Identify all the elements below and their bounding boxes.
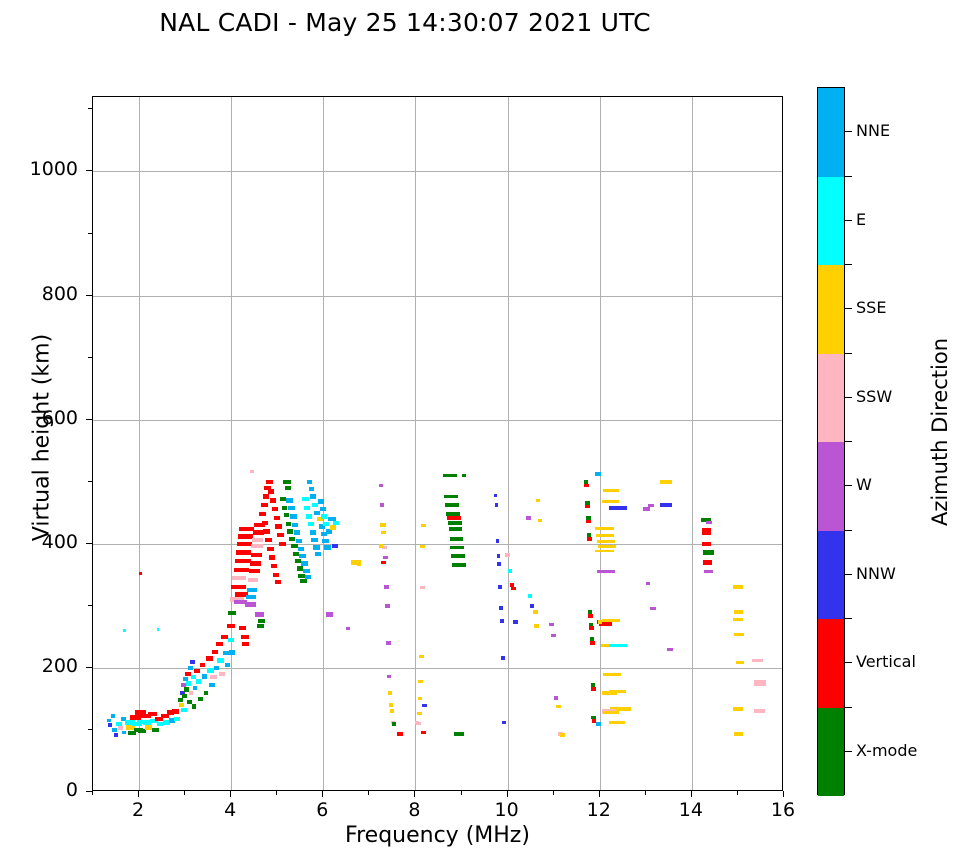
echo-mark [239, 527, 255, 531]
echo-mark [704, 570, 713, 573]
colorbar-tick [845, 751, 852, 752]
echo-mark [733, 585, 742, 589]
echo-mark [702, 528, 711, 535]
echo-mark [752, 659, 763, 663]
echo-mark [229, 650, 235, 654]
y-axis-title: Virtual height (km) [30, 288, 55, 588]
echo-mark [602, 691, 618, 695]
echo-mark [591, 687, 596, 691]
echo-mark [194, 669, 200, 673]
y-tick-minor [88, 729, 92, 730]
echo-mark [273, 573, 279, 577]
echo-mark [245, 602, 256, 606]
echo-mark [212, 650, 218, 654]
echo-mark [513, 620, 518, 624]
echo-mark [122, 731, 127, 735]
echo-mark [703, 550, 713, 555]
colorbar-tick [845, 485, 852, 486]
echo-mark [733, 618, 742, 622]
echo-mark [300, 579, 306, 583]
echo-mark [497, 562, 501, 566]
echo-mark [381, 561, 386, 565]
echo-mark [283, 480, 291, 484]
echo-mark [419, 655, 424, 658]
echo-mark [210, 675, 216, 679]
echo-mark [193, 686, 198, 690]
echo-mark [560, 733, 565, 737]
x-tick [783, 791, 784, 797]
x-tick-label: 12 [569, 799, 629, 821]
echo-mark [232, 576, 246, 580]
echo-mark [609, 506, 627, 510]
echo-mark [242, 642, 248, 646]
echo-mark [241, 635, 248, 639]
x-tick [599, 791, 600, 797]
y-tick-minor [88, 108, 92, 109]
echo-mark [227, 624, 235, 628]
echo-mark [157, 628, 160, 630]
echo-mark [262, 521, 268, 525]
echo-mark [497, 554, 501, 558]
echo-mark [383, 556, 388, 560]
echo-mark [499, 606, 503, 610]
echo-mark [330, 525, 336, 529]
echo-mark [379, 544, 384, 548]
echo-mark [286, 522, 292, 526]
echo-mark [646, 582, 651, 585]
echo-mark [188, 666, 193, 670]
echo-mark [310, 494, 316, 498]
echo-mark [602, 619, 620, 622]
colorbar-segment-sse [818, 265, 844, 354]
echo-mark [274, 516, 280, 520]
echo-mark [388, 691, 393, 695]
echo-mark [596, 722, 601, 726]
echo-mark [275, 580, 281, 584]
echo-mark [733, 707, 743, 711]
echo-mark [247, 588, 257, 592]
y-tick-label: 200 [0, 655, 78, 677]
echo-mark [268, 489, 274, 493]
echo-mark [603, 711, 619, 714]
echo-mark [734, 610, 743, 614]
echo-mark [554, 696, 559, 700]
echo-mark [310, 530, 316, 534]
echo-mark [502, 721, 506, 725]
echo-mark [536, 499, 540, 502]
x-tick [230, 791, 231, 797]
echo-mark [190, 660, 195, 664]
x-axis-title: Frequency (MHz) [92, 823, 783, 848]
echo-mark [280, 497, 286, 501]
colorbar-segment-x-mode [818, 708, 844, 797]
echo-mark [202, 674, 207, 678]
echo-mark [417, 712, 422, 715]
echo-mark [236, 550, 252, 554]
echo-mark [320, 507, 326, 511]
echo-mark [706, 521, 712, 524]
echo-mark [587, 537, 592, 541]
echo-mark [754, 680, 766, 686]
echo-mark [595, 550, 613, 552]
echo-mark [526, 516, 531, 520]
x-tick [138, 791, 139, 797]
x-tick-minor [184, 791, 185, 795]
echo-mark [271, 564, 277, 568]
echo-mark [228, 638, 234, 642]
x-tick [507, 791, 508, 797]
echo-mark [269, 555, 275, 559]
colorbar-label-nne: NNE [856, 121, 890, 140]
colorbar-tick [845, 308, 852, 309]
colorbar-label-vertical: Vertical [856, 652, 916, 671]
echo-mark [381, 531, 386, 535]
echo-mark [290, 514, 296, 518]
x-tick-minor [276, 791, 277, 795]
echo-mark [420, 545, 425, 548]
echo-mark [498, 585, 502, 589]
echo-mark [379, 484, 384, 488]
echo-mark [198, 697, 203, 701]
y-tick-label: 0 [0, 779, 78, 801]
echo-mark [447, 516, 461, 520]
echo-mark [451, 554, 465, 558]
echo-mark [315, 552, 321, 556]
x-tick-label: 4 [200, 799, 260, 821]
echo-mark [178, 698, 184, 702]
echo-mark [385, 604, 390, 608]
echo-mark [660, 480, 672, 484]
echo-mark [313, 545, 319, 549]
y-tick-label: 1000 [0, 158, 78, 180]
echo-mark [286, 498, 292, 502]
echo-mark [306, 514, 312, 518]
echo-mark [386, 641, 391, 645]
echo-mark [501, 656, 505, 660]
colorbar-segment-ssw [818, 354, 844, 443]
echo-mark [231, 585, 246, 589]
echo-mark [421, 524, 426, 527]
echo-mark [357, 561, 362, 565]
echo-mark [148, 712, 157, 716]
echo-mark [418, 697, 423, 700]
echo-mark [449, 527, 463, 531]
echo-mark [324, 545, 330, 549]
echo-mark [422, 704, 427, 707]
echo-mark [596, 534, 614, 537]
echo-mark [452, 563, 466, 567]
echo-mark [598, 472, 601, 476]
echo-mark [585, 505, 590, 509]
echo-mark [250, 561, 261, 565]
echo-mark [392, 722, 397, 726]
echo-mark [534, 624, 539, 628]
echo-mark [174, 717, 180, 721]
colorbar-tick [845, 131, 852, 132]
echo-mark [389, 703, 394, 707]
colorbar-segment-nne [818, 88, 844, 177]
echo-mark [590, 641, 595, 645]
echo-mark [123, 629, 126, 632]
echo-mark [500, 619, 504, 623]
echo-mark [384, 585, 389, 589]
echo-mark [204, 691, 209, 695]
echo-mark [323, 522, 329, 526]
echo-mark [272, 507, 278, 511]
echo-mark [584, 484, 589, 488]
echo-mark [250, 470, 255, 473]
echo-mark [298, 547, 304, 551]
echo-mark [307, 480, 313, 484]
echo-mark [251, 544, 262, 548]
x-tick [691, 791, 692, 797]
echo-mark [603, 673, 621, 676]
colorbar-title: Azimuth Direction [928, 282, 952, 582]
x-tick-minor [645, 791, 646, 795]
echo-mark [736, 661, 744, 664]
plot-area [92, 96, 783, 791]
x-tick-label: 10 [477, 799, 537, 821]
colorbar-tick [845, 574, 852, 575]
y-tick [86, 419, 92, 420]
y-tick-minor [88, 481, 92, 482]
echo-mark [301, 561, 307, 565]
y-tick [86, 791, 92, 792]
colorbar-segment-nnw [818, 531, 844, 620]
echo-mark [216, 642, 223, 646]
echo-mark [196, 679, 201, 683]
echo-mark [249, 569, 260, 573]
echo-mark [200, 663, 206, 667]
echo-mark [387, 675, 392, 679]
echo-mark [192, 704, 197, 708]
colorbar-tick [845, 220, 852, 221]
echo-mark [311, 538, 317, 542]
echo-mark [275, 524, 281, 528]
echo-mark [114, 733, 118, 737]
echo-mark [530, 604, 535, 608]
echo-mark [450, 537, 464, 541]
echo-mark [255, 612, 264, 616]
echo-mark [556, 705, 561, 709]
echo-mark [181, 708, 186, 712]
echo-mark [496, 539, 500, 543]
colorbar-boundary-tick [845, 176, 852, 177]
echo-mark [263, 494, 269, 498]
echo-mark [598, 545, 616, 548]
echo-mark [292, 523, 298, 527]
echo-mark [214, 666, 220, 670]
echo-mark [277, 533, 283, 537]
echo-mark [450, 546, 464, 550]
echo-mark [284, 513, 290, 517]
echo-mark [305, 575, 311, 579]
echo-mark [321, 514, 327, 518]
x-tick [414, 791, 415, 797]
echo-mark [495, 503, 499, 507]
colorbar-boundary-tick [845, 264, 852, 265]
echo-mark [182, 694, 187, 698]
echo-mark [228, 611, 235, 615]
echo-mark [318, 499, 324, 503]
echo-mark [189, 691, 194, 695]
echo-mark [415, 721, 420, 724]
echo-mark [443, 474, 457, 478]
y-tick [86, 667, 92, 668]
echo-mark [589, 626, 594, 630]
echo-mark [248, 578, 258, 582]
echo-mark [237, 542, 253, 546]
echo-mark [246, 595, 256, 599]
x-tick-minor [92, 791, 93, 795]
echo-mark [420, 586, 425, 589]
echo-mark [454, 732, 464, 736]
colorbar-tick [845, 662, 852, 663]
y-tick [86, 295, 92, 296]
echo-mark [702, 542, 711, 546]
echo-mark [225, 663, 231, 667]
echo-mark [267, 547, 273, 551]
echo-mark [266, 480, 272, 484]
echo-mark [209, 683, 215, 687]
echo-mark [418, 680, 423, 683]
echo-mark [508, 569, 513, 573]
echo-mark [289, 537, 295, 541]
echo-mark [603, 489, 619, 492]
x-tick-minor [368, 791, 369, 795]
echo-mark [108, 723, 112, 727]
x-tick-label: 16 [753, 799, 813, 821]
echo-mark [234, 568, 250, 572]
echo-mark [217, 658, 223, 662]
echo-mark [528, 594, 533, 598]
x-tick-minor [737, 791, 738, 795]
echo-mark [107, 719, 112, 723]
echo-mark [288, 506, 294, 510]
echo-mark [322, 539, 328, 543]
echo-mark [265, 538, 271, 542]
echo-mark [152, 728, 159, 732]
echo-mark [118, 726, 123, 730]
echo-mark [261, 503, 268, 507]
echo-mark [586, 520, 591, 524]
echo-mark [219, 672, 225, 676]
y-tick [86, 543, 92, 544]
page-title: NAL CADI - May 25 14:30:07 2021 UTC [0, 8, 810, 37]
echo-mark [648, 504, 654, 507]
x-tick-label: 14 [661, 799, 721, 821]
echo-mark [145, 725, 152, 729]
echo-mark [609, 721, 625, 724]
echo-mark [279, 542, 285, 546]
echo-mark [602, 500, 619, 503]
colorbar-segment-e [818, 177, 844, 266]
echo-mark [172, 709, 178, 713]
echo-mark [191, 675, 196, 679]
echo-mark [734, 633, 744, 637]
echo-mark [302, 497, 308, 501]
colorbar-label-sse: SSE [856, 298, 886, 317]
echo-mark [597, 540, 615, 543]
echo-mark [294, 530, 300, 534]
echo-mark [111, 714, 115, 718]
echo-mark [304, 506, 310, 510]
colorbar-segment-vertical [818, 619, 844, 708]
echo-mark [380, 523, 385, 527]
echo-mark [186, 681, 191, 685]
echo-mark [270, 498, 276, 502]
y-tick-minor [88, 233, 92, 234]
echo-mark [421, 731, 426, 734]
echo-mark [179, 703, 184, 707]
echo-mark [462, 474, 467, 477]
echo-mark [511, 587, 516, 591]
echo-mark [734, 732, 743, 736]
echo-mark [309, 487, 315, 491]
x-tick-label: 6 [292, 799, 352, 821]
colorbar-segment-w [818, 442, 844, 531]
echo-mark [251, 553, 262, 557]
echo-mark [660, 503, 672, 507]
x-tick-minor [461, 791, 462, 795]
echo-mark [333, 521, 339, 525]
echo-mark [505, 553, 510, 557]
echo-mark [650, 607, 656, 610]
echo-mark [326, 612, 332, 616]
colorbar-label-w: W [856, 475, 872, 494]
echo-mark [239, 626, 245, 630]
colorbar-tick [845, 397, 852, 398]
echo-mark [390, 709, 395, 713]
x-tick-label: 8 [384, 799, 444, 821]
colorbar-label-e: E [856, 210, 866, 229]
x-tick-minor [553, 791, 554, 795]
echo-mark [287, 529, 293, 533]
echo-mark [139, 572, 142, 574]
echo-mark [303, 569, 309, 573]
echo-mark [346, 627, 350, 630]
echo-mark [551, 634, 556, 638]
echo-mark [263, 529, 269, 533]
echo-mark [380, 503, 385, 507]
echo-mark [588, 614, 593, 618]
x-tick-label: 2 [108, 799, 168, 821]
colorbar-boundary-tick [845, 707, 852, 708]
echo-mark [643, 507, 649, 510]
echo-mark [326, 529, 332, 533]
echo-mark [259, 512, 266, 516]
echo-mark [448, 521, 462, 525]
echo-mark [112, 728, 117, 732]
echo-mark [703, 560, 712, 564]
colorbar-boundary-tick [845, 530, 852, 531]
echo-mark [614, 644, 628, 648]
echo-mark [598, 620, 602, 624]
echo-mark [397, 732, 403, 736]
echo-mark [667, 648, 673, 651]
echo-mark [444, 495, 458, 499]
echo-mark [238, 534, 254, 538]
echo-mark [257, 624, 264, 628]
echo-mark [235, 559, 251, 563]
echo-mark [296, 539, 302, 543]
colorbar-label-x-mode: X-mode [856, 741, 917, 760]
echo-mark [445, 503, 459, 507]
y-tick-minor [88, 605, 92, 606]
echo-mark [206, 656, 213, 660]
colorbar [817, 87, 845, 795]
echo-mark [332, 544, 338, 548]
